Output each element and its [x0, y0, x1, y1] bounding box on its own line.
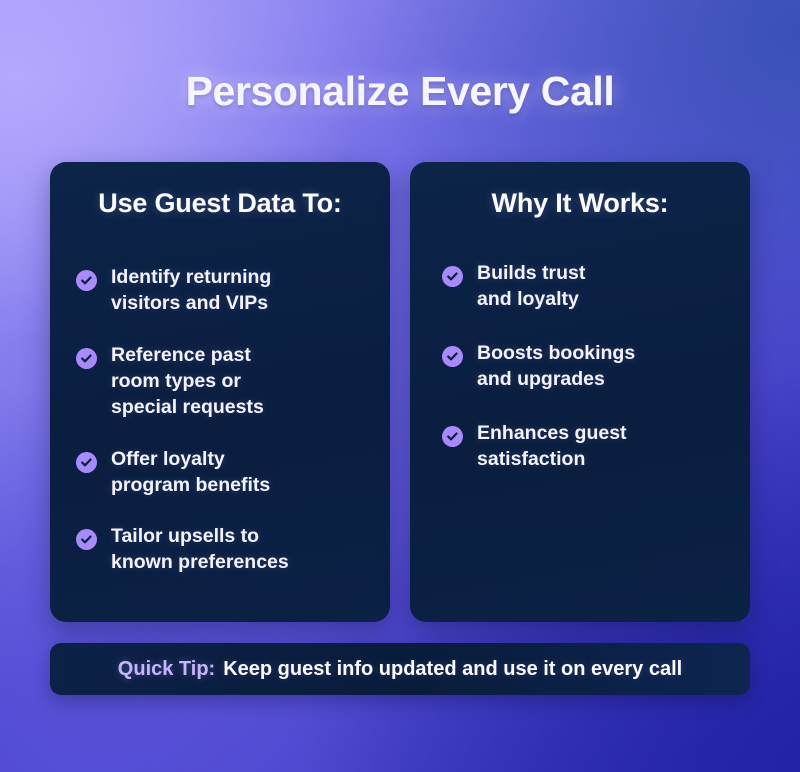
- card-use-guest-data: Use Guest Data To: Identify returning vi…: [50, 162, 390, 622]
- list-item: Identify returning visitors and VIPs: [72, 265, 368, 317]
- benefit-list: Builds trust and loyalty Boosts bookings…: [432, 261, 728, 473]
- list-item: Tailor upsells to known preferences: [72, 524, 368, 576]
- infographic-root: Personalize Every Call Use Guest Data To…: [0, 0, 800, 772]
- quick-tip-bar: Quick Tip: Keep guest info updated and u…: [50, 643, 750, 695]
- check-circle-icon: [76, 348, 97, 369]
- card-title: Why It Works:: [432, 188, 728, 219]
- check-circle-icon: [442, 266, 463, 287]
- benefit-list: Identify returning visitors and VIPs Ref…: [72, 265, 368, 576]
- list-item-label: Boosts bookings and upgrades: [477, 341, 635, 393]
- check-circle-icon: [76, 270, 97, 291]
- quick-tip-label: Quick Tip:: [118, 658, 215, 681]
- check-circle-icon: [76, 529, 97, 550]
- card-title: Use Guest Data To:: [72, 188, 368, 219]
- check-circle-icon: [442, 426, 463, 447]
- list-item-label: Tailor upsells to known preferences: [111, 524, 289, 576]
- check-circle-icon: [442, 346, 463, 367]
- card-why-it-works: Why It Works: Builds trust and loyalty B…: [410, 162, 750, 622]
- list-item: Boosts bookings and upgrades: [432, 341, 728, 393]
- list-item-label: Offer loyalty program benefits: [111, 447, 270, 499]
- list-item: Offer loyalty program benefits: [72, 447, 368, 499]
- list-item-label: Enhances guest satisfaction: [477, 421, 627, 473]
- list-item-label: Reference past room types or special req…: [111, 343, 264, 421]
- list-item: Enhances guest satisfaction: [432, 421, 728, 473]
- list-item-label: Builds trust and loyalty: [477, 261, 585, 313]
- list-item: Builds trust and loyalty: [432, 261, 728, 313]
- check-circle-icon: [76, 452, 97, 473]
- quick-tip-text: Keep guest info updated and use it on ev…: [223, 658, 682, 681]
- list-item-label: Identify returning visitors and VIPs: [111, 265, 271, 317]
- page-title: Personalize Every Call: [0, 68, 800, 115]
- list-item: Reference past room types or special req…: [72, 343, 368, 421]
